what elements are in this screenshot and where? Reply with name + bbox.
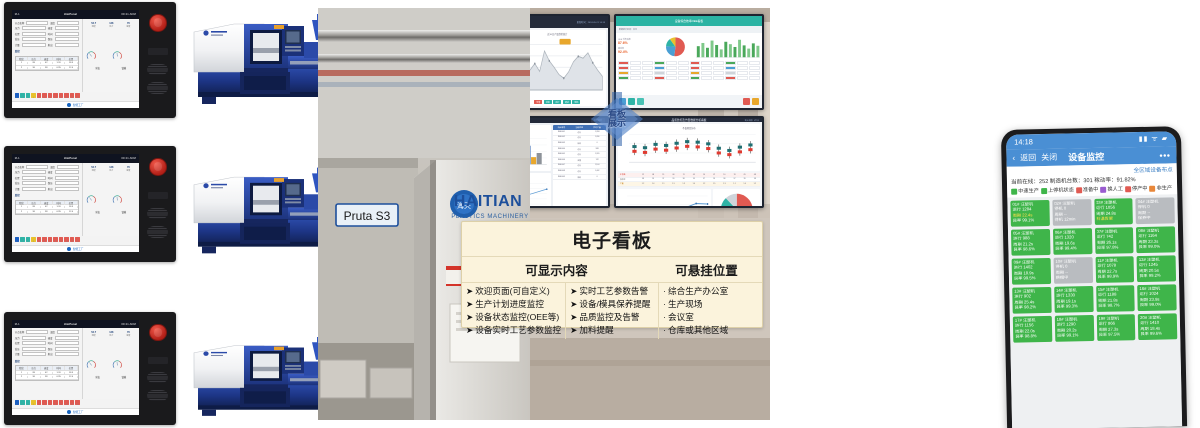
hmi-input[interactable] xyxy=(55,37,79,41)
hmi-field-label: 射出 xyxy=(48,43,53,47)
hmi-led-label: 7 xyxy=(48,405,53,406)
hmi-footer-brand: 智能工厂 xyxy=(73,410,83,414)
machine-status-card[interactable]: 14# 注塑机运行 1330周期 19.1s良率 99.3% xyxy=(1054,286,1093,313)
hmi-led-label: 7 xyxy=(48,98,53,99)
status-tag[interactable]: 调试 xyxy=(563,100,571,104)
hmi-table-cell: 85 xyxy=(28,372,40,374)
machine-status-table[interactable]: 机台编号当前状态实时产量 IMM-001运行1,284IMM-002运行1,05… xyxy=(553,125,606,206)
oee-matrix-cell[interactable] xyxy=(654,61,665,65)
status-tag[interactable]: 运行 xyxy=(553,100,561,104)
hmi-field-row[interactable]: 计量射出 xyxy=(15,352,79,356)
dashboard-oee[interactable]: 设备综合效率OEE看板 数据统计区间：本月 OEE 综合效率87.6%稼动率92… xyxy=(614,14,764,110)
dashboard-quality[interactable]: 品质监控及告警数据分析看板 统计周期：近7日 不良项目分布 不良数1208150… xyxy=(614,116,764,208)
hmi-gauge-area: 52.7温度128压力76速度射出锁模 xyxy=(82,328,139,399)
export-icon[interactable] xyxy=(628,98,635,105)
hmi-table-row[interactable]: 290380.9512.0 xyxy=(16,375,78,380)
hmi-led-label: 2 xyxy=(20,405,25,406)
hmi-table-header-cell: 位置 xyxy=(65,57,77,61)
oee-matrix-cell[interactable] xyxy=(654,66,665,70)
oee-stat-value: 92.4% xyxy=(618,50,655,54)
hmi-input[interactable] xyxy=(55,32,79,36)
oee-matrix-cell[interactable] xyxy=(630,66,641,70)
defect-cell: 1.1 xyxy=(658,183,668,185)
hmi-field-row[interactable]: 压力速度 xyxy=(15,170,79,174)
hmi-mini-values: 52.7温度128压力76速度 xyxy=(85,330,137,337)
hmi-table-cell: 1 xyxy=(16,62,28,64)
hmi-led: 7 xyxy=(48,93,53,99)
hmi-field-label: 保压 xyxy=(48,37,53,41)
hmi-led: 2 xyxy=(20,400,25,406)
hmi-input[interactable] xyxy=(22,170,46,174)
hmi-field-row[interactable]: 压力速度 xyxy=(15,26,79,30)
hmi-side-slot xyxy=(148,357,168,364)
refresh-icon[interactable] xyxy=(637,98,644,105)
info-list-item: ➤设备状态监控(OEE等) xyxy=(466,312,561,323)
list-marker-icon: · xyxy=(663,299,666,310)
hmi-side-controls[interactable] xyxy=(144,153,172,255)
oee-matrix-cell[interactable] xyxy=(713,71,724,75)
defect-cell: 1.5 xyxy=(709,183,719,185)
mobile-device[interactable]: 14:18 ▮▮ ᯤ ▰ ‹ 返回 关闭 设备监控 ••• 全区域设备布点 当前… xyxy=(1001,126,1187,428)
hmi-field-row[interactable]: 节点名称温度 xyxy=(15,165,79,169)
oee-matrix-cell[interactable] xyxy=(737,76,748,80)
machine-card-line: 良率 99.3% xyxy=(1056,304,1091,310)
hmi-table-cell: 38 xyxy=(41,67,53,69)
hmi-field-label: 时间 xyxy=(48,32,53,36)
hmi-table-header-cell: 阶段 xyxy=(16,57,28,61)
oee-matrix-cell[interactable] xyxy=(713,66,724,70)
hmi-table-cell: 90 xyxy=(28,67,40,69)
oee-matrix-cell[interactable] xyxy=(749,76,760,80)
oee-matrix-cell[interactable] xyxy=(630,76,641,80)
hmi-input[interactable] xyxy=(26,21,48,25)
table-cell: 1,402 xyxy=(588,169,606,174)
hmi-topbar: M-1HmiPanel09:21 ADM xyxy=(12,320,139,329)
hmi-indicator-leds: 123456789101112 xyxy=(12,399,139,408)
oee-matrix-cell[interactable] xyxy=(678,61,689,65)
location-column: ·综合生产办公室·生产现场·会议室·仓库或其他区域 xyxy=(659,283,762,339)
hmi-led: 12 xyxy=(75,93,80,99)
hmi-input[interactable] xyxy=(57,330,79,334)
machine-status-card[interactable]: 19# 注塑机运行 866周期 27.3s良率 97.5% xyxy=(1096,314,1135,341)
hmi-title: HmiPanel xyxy=(64,157,77,160)
oee-matrix-row xyxy=(618,76,760,80)
defect-cell: 97 xyxy=(699,178,709,180)
machine-card-grid[interactable]: 01# 注塑机运行 1284周期 22.4s良率 99.1%02# 注塑机停机 … xyxy=(1007,194,1182,428)
hmi-input[interactable] xyxy=(22,341,46,345)
oee-matrix-cell[interactable] xyxy=(666,76,677,80)
hmi-panel-2[interactable]: M-1HmiPanel09:21 ADM节点名称温度压力速度位置时间背压保压计量… xyxy=(4,146,176,262)
hmi-panel-3[interactable]: M-1HmiPanel09:21 ADM节点名称温度压力速度位置时间背压保压计量… xyxy=(4,312,176,425)
hmi-field-label: 位置 xyxy=(15,176,20,180)
machine-status-card[interactable]: 13# 注塑机运行 902周期 25.4s良率 98.2% xyxy=(1012,287,1051,314)
oee-matrix-cell[interactable] xyxy=(749,61,760,65)
defect-row-cells: 989997999899979998979998 xyxy=(638,178,760,180)
hmi-gauge xyxy=(86,47,97,65)
defect-cell: 1.3 xyxy=(679,183,689,185)
info-list-text: 品质监控及告警 xyxy=(579,312,639,323)
hmi-gauge-label: 锁模 xyxy=(112,210,136,214)
defect-cell: 98 xyxy=(638,178,648,180)
machine-status-card[interactable]: 02# 注塑机停机 0周期 --待机 12min xyxy=(1052,199,1091,226)
defect-cell: 05 xyxy=(740,174,750,176)
oee-matrix-cell[interactable] xyxy=(725,76,736,80)
hmi-led: 3 xyxy=(26,93,31,99)
list-marker-icon: ➤ xyxy=(466,312,473,323)
machine-card-line: 良率 98.8% xyxy=(1015,334,1050,340)
hmi-table-cell: 1 xyxy=(16,372,28,374)
info-list-item: ➤实时工艺参数告警 xyxy=(570,286,654,297)
hmi-table-cell: 12.0 xyxy=(65,67,77,69)
hmi-input[interactable] xyxy=(55,26,79,30)
hmi-led: 11 xyxy=(70,400,75,406)
oee-matrix-cell[interactable] xyxy=(642,76,653,80)
machine-status-card[interactable]: 15# 注塑机运行 1188周期 21.8s良率 98.7% xyxy=(1096,285,1135,312)
hmi-field-row[interactable]: 背压保压 xyxy=(15,37,79,41)
hmi-input[interactable] xyxy=(22,26,46,30)
hmi-led: 1 xyxy=(15,400,20,406)
hmi-field-row[interactable]: 位置时间 xyxy=(15,341,79,345)
settings-icon[interactable] xyxy=(752,98,759,105)
defect-cell: 98 xyxy=(719,178,729,180)
oee-matrix-cell[interactable] xyxy=(666,66,677,70)
machine-status-card[interactable]: 10# 注塑机停机 0周期 --换模中 xyxy=(1053,257,1092,284)
hmi-gauge-wrap: 锁模 xyxy=(112,191,136,214)
hmi-indicator-leds: 123456789101112 xyxy=(12,236,139,245)
hmi-side-controls[interactable] xyxy=(144,9,172,111)
machine-status-card[interactable]: 05# 注塑机运行 988周期 21.2s良率 98.6% xyxy=(1011,229,1050,256)
defect-cell: 11 xyxy=(679,174,689,176)
defect-cell: 99 xyxy=(740,178,750,180)
hmi-led: 4 xyxy=(31,93,36,99)
hmi-field-row[interactable]: 压力速度 xyxy=(15,336,79,340)
defect-cell: 98 xyxy=(679,178,689,180)
oee-matrix-cell[interactable] xyxy=(678,76,689,80)
machine-status-card[interactable]: 03# 注塑机运行 1056周期 24.8s料温告警 xyxy=(1094,198,1133,225)
defect-cell: 99 xyxy=(648,178,658,180)
table-cell: IMM-001 xyxy=(553,130,571,135)
info-list-text: 实时工艺参数告警 xyxy=(579,286,648,297)
hmi-led: 5 xyxy=(37,400,42,406)
oee-toolbar[interactable] xyxy=(616,95,762,108)
hmi-topbar-right: 09:21 ADM xyxy=(121,157,136,160)
hmi-table-cell: 2 xyxy=(16,376,28,378)
defect-cell: 1.4 xyxy=(689,183,699,185)
machine-status-card[interactable]: 06# 注塑机运行 1320周期 19.6s良率 99.4% xyxy=(1053,228,1092,255)
hmi-input[interactable] xyxy=(57,21,79,25)
list-marker-icon: ➤ xyxy=(466,286,473,297)
legend-label: 换人工 xyxy=(1107,185,1123,192)
emergency-stop-button[interactable] xyxy=(149,324,167,342)
hmi-table-header-cell: 时间 xyxy=(53,366,65,370)
oee-matrix-cell[interactable] xyxy=(737,61,748,65)
hmi-field-row[interactable]: 位置时间 xyxy=(15,32,79,36)
oee-matrix-cell[interactable] xyxy=(725,66,736,70)
brand-logo-icon xyxy=(67,410,71,414)
hmi-led: 9 xyxy=(59,93,64,99)
defect-cell: 13 xyxy=(729,174,739,176)
oee-matrix-cell[interactable] xyxy=(725,61,736,65)
hmi-input[interactable] xyxy=(55,187,79,191)
hmi-screen[interactable]: M-1HmiPanel09:21 ADM节点名称温度压力速度位置时间背压保压计量… xyxy=(12,320,139,415)
oee-matrix-cell[interactable] xyxy=(701,76,712,80)
hmi-field-label: 背压 xyxy=(15,347,20,351)
hmi-led: 1 xyxy=(15,93,20,99)
hmi-field-row[interactable]: 计量射出 xyxy=(15,43,79,47)
defect-cell: 10 xyxy=(719,174,729,176)
hmi-table-row[interactable]: 290380.9512.0 xyxy=(16,66,78,71)
hmi-led: 3 xyxy=(26,237,31,243)
status-tag[interactable]: 告警 xyxy=(534,100,542,104)
hmi-input[interactable] xyxy=(55,341,79,345)
hmi-input[interactable] xyxy=(22,347,46,351)
table-cell: 告警 xyxy=(570,158,588,163)
hmi-input[interactable] xyxy=(22,43,46,47)
hmi-input[interactable] xyxy=(22,37,46,41)
hmi-section-title: 监控 xyxy=(15,359,79,363)
hmi-title: HmiPanel xyxy=(64,13,77,16)
hmi-field-row[interactable]: 背压保压 xyxy=(15,347,79,351)
hmi-field-label: 保压 xyxy=(48,347,53,351)
hmi-led: 3 xyxy=(26,400,31,406)
hmi-topbar-right: 09:21 ADM xyxy=(121,13,136,16)
machine-status-card[interactable]: 12# 注塑机运行 1245周期 20.5s良率 99.2% xyxy=(1137,255,1176,282)
machine-card-line: 良率 99.0% xyxy=(1140,303,1175,309)
oee-matrix-cell[interactable] xyxy=(725,71,736,75)
hmi-table-row[interactable]: 290380.9512.0 xyxy=(16,210,78,215)
nav-back-label[interactable]: 返回 xyxy=(1020,152,1036,163)
hmi-input[interactable] xyxy=(57,165,79,169)
hmi-led: 10 xyxy=(64,237,69,243)
info-list-text: 仓库或其他区域 xyxy=(668,325,728,336)
hmi-mini-values: 52.7温度128压力76速度 xyxy=(85,165,137,172)
hmi-input[interactable] xyxy=(22,352,46,356)
table-cell: 运行 xyxy=(570,147,588,152)
hmi-table-cell: 38 xyxy=(41,211,53,213)
dashboard-oee-title: 设备综合效率OEE看板 xyxy=(675,19,703,23)
defect-row-cells: 120815061109140710130508 xyxy=(638,174,760,176)
hmi-input[interactable] xyxy=(55,170,79,174)
hmi-screen[interactable]: M-1HmiPanel09:21 ADM节点名称温度压力速度位置时间背压保压计量… xyxy=(12,154,139,251)
hmi-led-label: 3 xyxy=(26,405,31,406)
defect-cell: 97 xyxy=(729,178,739,180)
info-list-item: ➤设备/模具保养提醒 xyxy=(570,299,654,310)
hmi-input[interactable] xyxy=(22,336,46,340)
machine-status-card[interactable]: 08# 注塑机运行 1164周期 23.3s良率 99.0% xyxy=(1136,226,1175,253)
oee-matrix-cell[interactable] xyxy=(678,66,689,70)
hmi-gauge-label: 锁模 xyxy=(112,375,136,379)
oee-matrix-cell[interactable] xyxy=(713,61,724,65)
hmi-parameter-form[interactable]: 节点名称温度压力速度位置时间背压保压计量射出监控阶段压力速度时间位置185421… xyxy=(12,19,82,92)
filter-icon[interactable] xyxy=(619,98,626,105)
hmi-table-header-cell: 阶段 xyxy=(16,201,28,205)
hmi-led-label: 7 xyxy=(48,242,53,243)
oee-matrix-cell[interactable] xyxy=(642,66,653,70)
hmi-field-label: 节点名称 xyxy=(15,165,25,169)
hmi-led: 2 xyxy=(20,93,25,99)
oee-matrix-cell[interactable] xyxy=(666,71,677,75)
oee-matrix-cell[interactable] xyxy=(654,71,665,75)
oee-matrix-cell[interactable] xyxy=(618,66,629,70)
legend-entry: 中速生产 xyxy=(1011,187,1039,195)
machine-status-card[interactable]: 09# 注塑机运行 1402周期 18.9s良率 99.5% xyxy=(1012,258,1051,285)
hmi-panel-1[interactable]: M-1HmiPanel09:21 ADM节点名称温度压力速度位置时间背压保压计量… xyxy=(4,2,176,118)
info-list-text: 设备/模具保养提醒 xyxy=(579,299,650,310)
hmi-input[interactable] xyxy=(22,181,46,185)
machine-status-card[interactable]: 04# 注塑机停机 0周期 --保养中 xyxy=(1136,197,1175,224)
machine-status-card[interactable]: 11# 注塑机运行 1078周期 22.7s良率 98.9% xyxy=(1095,256,1134,283)
hmi-led: 12 xyxy=(75,400,80,406)
machine-status-card[interactable]: 16# 注塑机运行 1024周期 23.9s良率 99.0% xyxy=(1137,284,1176,311)
hmi-led: 10 xyxy=(64,400,69,406)
list-marker-icon: ➤ xyxy=(570,325,577,336)
hmi-led: 9 xyxy=(59,237,64,243)
more-icon[interactable]: ••• xyxy=(1159,150,1170,160)
hmi-led-label: 10 xyxy=(64,98,69,99)
machine-status-card[interactable]: 18# 注塑机运行 1290周期 20.2s良率 99.1% xyxy=(1055,315,1094,342)
table-cell: 1,164 xyxy=(588,164,606,169)
machine-card-line: 良率 98.9% xyxy=(1097,275,1132,281)
oee-matrix-cell[interactable] xyxy=(690,61,701,65)
hmi-input[interactable] xyxy=(26,165,48,169)
content-column-1: ➤欢迎页面(可自定义)➤生产计划进度监控➤设备状态监控(OEE等)➤设备实时工艺… xyxy=(462,283,566,339)
hmi-table-cell: 42 xyxy=(41,372,53,374)
machine-status-card[interactable]: 17# 注塑机运行 1156周期 22.0s良率 98.8% xyxy=(1013,316,1052,343)
nav-close-label[interactable]: 关闭 xyxy=(1041,152,1057,163)
hmi-led: 7 xyxy=(48,400,53,406)
oee-matrix-cell[interactable] xyxy=(654,76,665,80)
hmi-input[interactable] xyxy=(22,176,46,180)
emergency-stop-button[interactable] xyxy=(149,14,167,32)
hmi-field-row[interactable]: 节点名称温度 xyxy=(15,330,79,334)
hmi-table-cell: 90 xyxy=(28,376,40,378)
legend-swatch xyxy=(1011,188,1017,194)
hmi-field-row[interactable]: 背压保压 xyxy=(15,181,79,185)
oee-matrix-cell[interactable] xyxy=(642,71,653,75)
hmi-input[interactable] xyxy=(55,181,79,185)
info-list-item: ➤生产计划进度监控 xyxy=(466,299,561,310)
table-cell: IMM-006 xyxy=(553,158,571,163)
info-list-item: ➤加料提醒 xyxy=(570,325,654,336)
defect-row-label: 良品率 xyxy=(618,178,638,181)
hmi-input[interactable] xyxy=(55,43,79,47)
oee-matrix-cell[interactable] xyxy=(701,71,712,75)
machine-status-card[interactable]: 01# 注塑机运行 1284周期 22.4s良率 99.1% xyxy=(1010,200,1049,227)
hmi-gauge-wrap: 锁模 xyxy=(112,356,136,379)
hmi-field-label: 计量 xyxy=(15,43,20,47)
oee-matrix-cell[interactable] xyxy=(749,66,760,70)
oee-matrix-cell[interactable] xyxy=(690,66,701,70)
alarm-icon[interactable] xyxy=(743,98,750,105)
oee-matrix-cell[interactable] xyxy=(618,61,629,65)
hmi-table-cell: 38 xyxy=(41,376,53,378)
hmi-field-label: 温度 xyxy=(50,165,55,169)
hmi-input[interactable] xyxy=(26,330,48,334)
list-marker-icon: · xyxy=(663,325,666,336)
oee-matrix-cell[interactable] xyxy=(749,71,760,75)
machine-card-line: 换模中 xyxy=(1056,275,1091,281)
defect-cell: 12 xyxy=(638,174,648,176)
legend-swatch xyxy=(1125,186,1131,192)
oee-matrix-cell[interactable] xyxy=(713,76,724,80)
machine-card-line: 良率 97.5% xyxy=(1099,333,1134,339)
defect-cell: 99 xyxy=(689,178,699,180)
oee-matrix-cell[interactable] xyxy=(701,61,712,65)
hmi-field-row[interactable]: 位置时间 xyxy=(15,176,79,180)
hmi-parameter-form[interactable]: 节点名称温度压力速度位置时间背压保压计量射出监控阶段压力速度时间位置185421… xyxy=(12,163,82,236)
machine-card-line: 保养中 xyxy=(1138,216,1173,222)
oee-matrix-cell[interactable] xyxy=(618,71,629,75)
oee-matrix-cell[interactable] xyxy=(737,71,748,75)
back-icon[interactable]: ‹ xyxy=(1012,154,1015,163)
hmi-screen[interactable]: M-1HmiPanel09:21 ADM节点名称温度压力速度位置时间背压保压计量… xyxy=(12,10,139,107)
hmi-input[interactable] xyxy=(55,347,79,351)
oee-matrix-cell[interactable] xyxy=(642,61,653,65)
oee-matrix-cell[interactable] xyxy=(690,76,701,80)
emergency-stop-button[interactable] xyxy=(149,158,167,176)
hmi-parameter-form[interactable]: 节点名称温度压力速度位置时间背压保压计量射出监控阶段压力速度时间位置185421… xyxy=(12,328,82,399)
hmi-led: 1 xyxy=(15,237,20,243)
defect-cell: 15 xyxy=(658,174,668,176)
oee-matrix-cell[interactable] xyxy=(737,66,748,70)
oee-matrix-cell[interactable] xyxy=(690,71,701,75)
oee-matrix-cell[interactable] xyxy=(666,61,677,65)
oee-matrix-cell[interactable] xyxy=(678,71,689,75)
hmi-table-cell: 1.20 xyxy=(53,206,65,208)
hmi-input[interactable] xyxy=(22,32,46,36)
info-list-item: ·仓库或其他区域 xyxy=(663,325,758,336)
hmi-speaker-grill xyxy=(147,64,168,75)
hmi-led-label: 5 xyxy=(37,405,42,406)
hmi-input[interactable] xyxy=(55,176,79,180)
table-cell: 742 xyxy=(588,158,606,163)
phone-page-title: 设备监控 xyxy=(1068,150,1104,164)
machine-status-card[interactable]: 20# 注塑机运行 1410周期 18.4s良率 99.6% xyxy=(1138,313,1177,340)
defect-row: 产量1.21.41.11.51.31.41.21.51.31.11.41.2 xyxy=(618,182,760,187)
status-tag[interactable]: 停机 xyxy=(572,100,580,104)
machine-status-card[interactable]: 07# 注塑机运行 742周期 26.1s良率 97.8% xyxy=(1094,227,1133,254)
defect-cell: 1.2 xyxy=(699,183,709,185)
list-marker-icon: ➤ xyxy=(466,325,473,336)
oee-matrix-cell[interactable] xyxy=(630,71,641,75)
hmi-speaker-grill xyxy=(147,208,168,219)
hmi-field-label: 背压 xyxy=(15,37,20,41)
oee-matrix-cell[interactable] xyxy=(618,76,629,80)
hmi-field-row[interactable]: 节点名称温度 xyxy=(15,21,79,25)
oee-matrix-cell[interactable] xyxy=(630,61,641,65)
legend-label: 上停机状态 xyxy=(1048,186,1074,194)
brand-logo-icon xyxy=(67,103,71,107)
machine-table-body: IMM-001运行1,284IMM-002运行1,056IMM-003待机0IM… xyxy=(553,130,606,180)
hmi-input[interactable] xyxy=(22,187,46,191)
hmi-field-label: 节点名称 xyxy=(15,21,25,25)
hmi-gauge xyxy=(86,356,97,374)
hmi-gauge-area: 52.7温度128压力76速度射出锁模 xyxy=(82,163,139,236)
hmi-table: 阶段压力速度时间位置185421.2018.5290380.9512.0 xyxy=(15,200,79,216)
hmi-table-cell: 1 xyxy=(16,206,28,208)
hmi-gauge-wrap: 射出 xyxy=(86,356,110,379)
oee-matrix-cell[interactable] xyxy=(701,66,712,70)
table-row[interactable]: IMM-009停机0 xyxy=(553,175,606,181)
hmi-field-row[interactable]: 计量射出 xyxy=(15,187,79,191)
table-cell: IMM-009 xyxy=(553,175,571,180)
hmi-led-label: 1 xyxy=(15,405,20,406)
hmi-side-controls[interactable] xyxy=(144,319,172,418)
hmi-input[interactable] xyxy=(55,352,79,356)
legend-entry: 非生产 xyxy=(1150,184,1173,191)
hmi-input[interactable] xyxy=(55,336,79,340)
status-tag[interactable]: 待机 xyxy=(544,100,552,104)
